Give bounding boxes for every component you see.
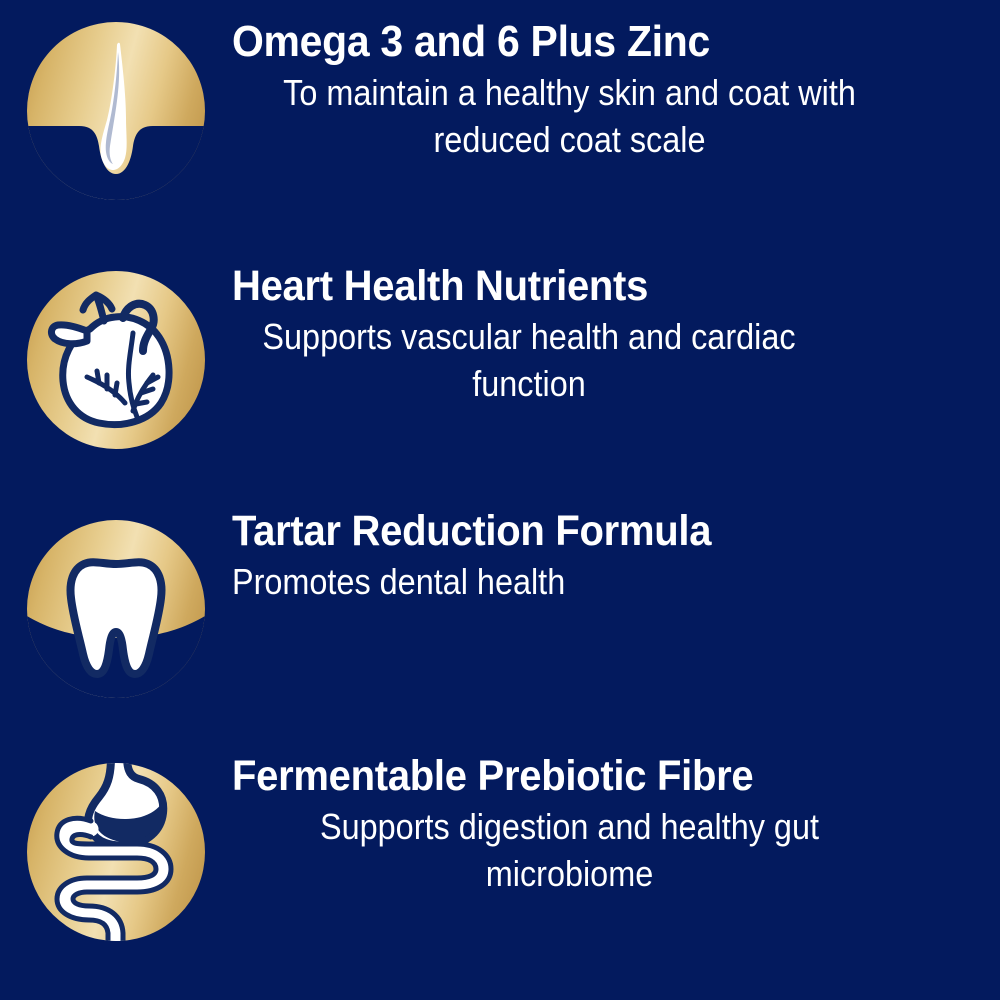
feature-description: To maintain a healthy skin and coat with… [232,69,907,164]
feature-description: Supports digestion and healthy gut micro… [232,803,907,898]
feature-row: Fermentable Prebiotic Fibre Supports dig… [0,747,1000,992]
icon-cell [0,257,232,449]
stomach-intestine-icon [27,763,205,941]
feature-row: Tartar Reduction Formula Promotes dental… [0,502,1000,747]
feature-row: Omega 3 and 6 Plus Zinc To maintain a he… [0,12,1000,257]
feature-row: Heart Health Nutrients Supports vascular… [0,257,1000,502]
icon-cell [0,12,232,200]
hair-follicle-icon [27,22,205,200]
feature-title: Tartar Reduction Formula [232,510,930,554]
text-cell: Heart Health Nutrients Supports vascular… [232,257,1000,408]
icon-cell [0,747,232,941]
tooth-icon [27,520,205,698]
icon-cell [0,502,232,698]
text-cell: Fermentable Prebiotic Fibre Supports dig… [232,747,1000,898]
feature-description: Promotes dental health [232,558,907,606]
feature-title: Heart Health Nutrients [232,265,930,309]
feature-title: Omega 3 and 6 Plus Zinc [232,20,930,65]
text-cell: Tartar Reduction Formula Promotes dental… [232,502,1000,605]
feature-title: Fermentable Prebiotic Fibre [232,755,930,799]
benefits-panel: Omega 3 and 6 Plus Zinc To maintain a he… [0,0,1000,1000]
text-cell: Omega 3 and 6 Plus Zinc To maintain a he… [232,12,1000,164]
feature-description: Supports vascular health and cardiac fun… [232,313,826,408]
anatomical-heart-icon [27,271,205,449]
